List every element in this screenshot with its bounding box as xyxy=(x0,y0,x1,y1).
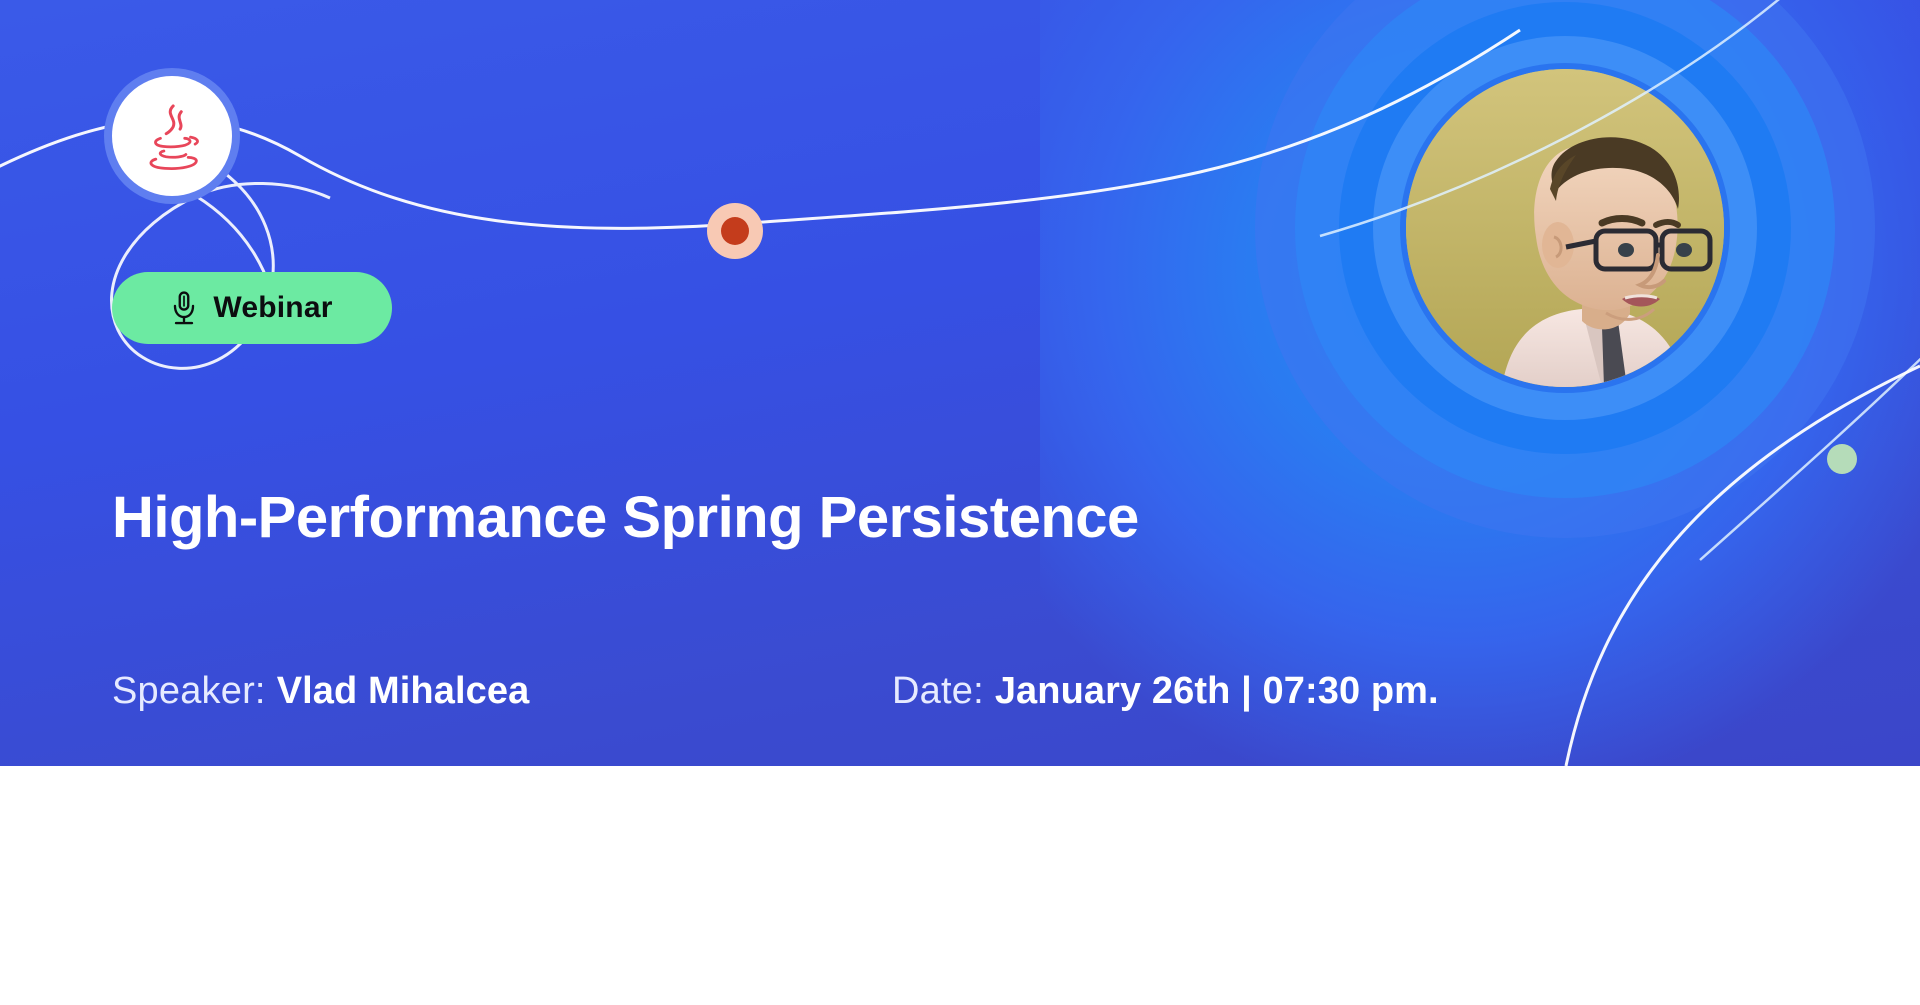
event-banner: Webinar High-Performance Spring Persiste… xyxy=(0,0,1920,1005)
event-meta: Speaker: Vlad Mihalcea Date: January 26t… xyxy=(112,670,1512,722)
accent-dot-rust xyxy=(721,217,749,245)
date-block: Date: January 26th | 07:30 pm. xyxy=(892,670,1439,713)
java-logo xyxy=(112,76,232,196)
speaker-name: Vlad Mihalcea xyxy=(277,670,530,713)
accent-dot-green xyxy=(1827,444,1857,474)
java-logo-icon xyxy=(135,99,209,173)
speaker-label: Speaker: xyxy=(112,670,266,713)
date-label: Date: xyxy=(892,670,984,713)
date-value: January 26th | 07:30 pm. xyxy=(995,670,1439,713)
page-title: High-Performance Spring Persistence xyxy=(112,487,1292,548)
hero-section: Webinar High-Performance Spring Persiste… xyxy=(0,0,1920,766)
microphone-icon xyxy=(171,291,197,325)
speaker-block: Speaker: Vlad Mihalcea xyxy=(112,670,529,713)
webinar-badge[interactable]: Webinar xyxy=(112,272,392,344)
decorative-lines xyxy=(0,0,1920,766)
footer-section: Partners: Organized by: AMUSNET Paysafe xyxy=(0,766,1920,1005)
webinar-badge-label: Webinar xyxy=(213,291,332,325)
